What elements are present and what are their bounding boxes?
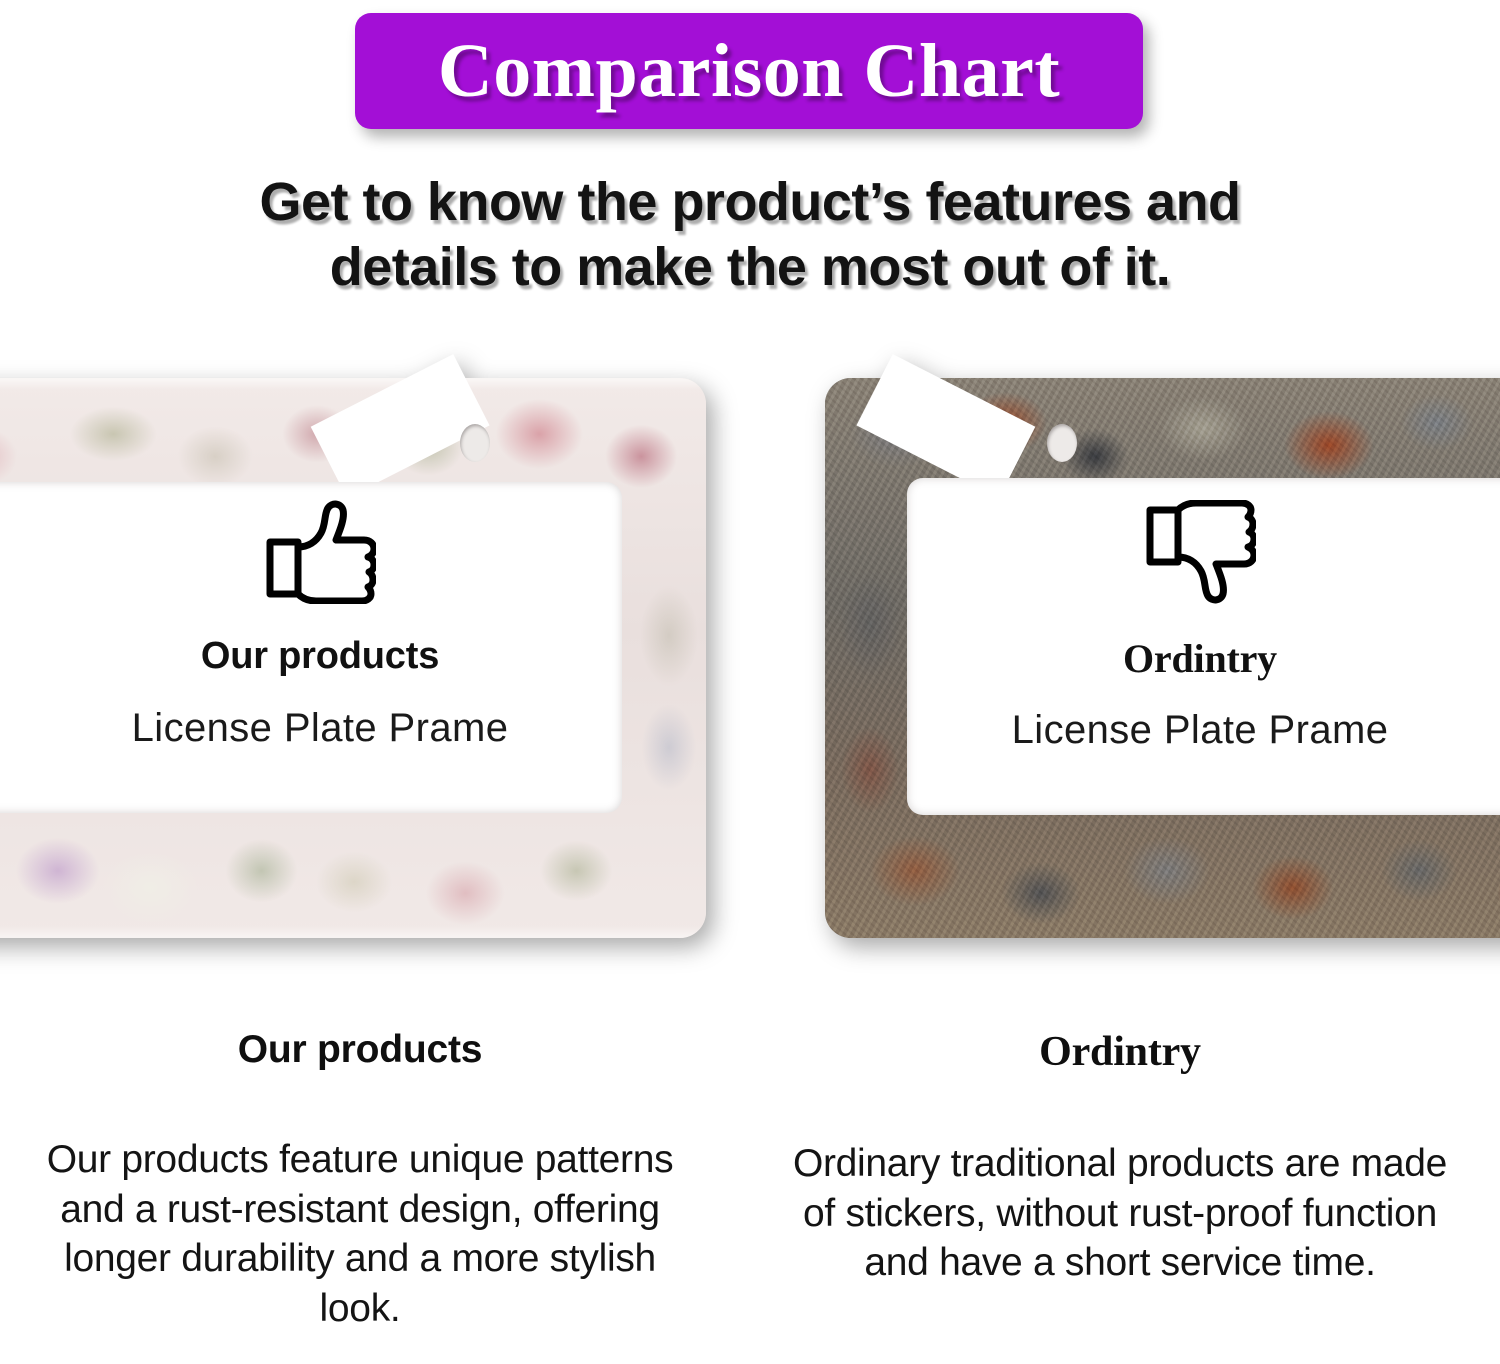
thumbs-up-icon — [0, 500, 640, 609]
subtitle-line-1: Get to know the product’s features and — [0, 170, 1500, 235]
mounting-hole — [460, 424, 490, 462]
caption-block-ordinary: Ordintry License Plate Prame — [900, 500, 1500, 753]
subtitle: Get to know the product’s features and d… — [0, 170, 1500, 300]
mounting-hole — [1047, 424, 1077, 462]
column-body-ours: Our products feature unique patterns and… — [30, 1135, 690, 1333]
column-title-ordinary: Ordintry — [790, 1028, 1450, 1076]
column-body-ordinary: Ordinary traditional products are made o… — [790, 1139, 1450, 1288]
subtitle-line-2: details to make the most out of it. — [0, 235, 1500, 300]
column-title-ours: Our products — [30, 1028, 690, 1072]
comparison-chart-page: Comparison Chart Get to know the product… — [0, 0, 1500, 1364]
caption-block-ours: Our products License Plate Prame — [0, 500, 640, 751]
caption-subtitle-ours: License Plate Prame — [0, 706, 640, 751]
caption-subtitle-ordinary: License Plate Prame — [900, 708, 1500, 753]
comparison-column-ours: Our products Our products feature unique… — [30, 1028, 690, 1333]
thumbs-down-icon — [900, 500, 1500, 609]
comparison-column-ordinary: Ordintry Ordinary traditional products a… — [790, 1028, 1450, 1288]
page-title: Comparison Chart — [438, 33, 1060, 109]
caption-title-ordinary: Ordintry — [900, 635, 1500, 682]
title-badge: Comparison Chart — [355, 13, 1143, 129]
caption-title-ours: Our products — [0, 635, 640, 678]
